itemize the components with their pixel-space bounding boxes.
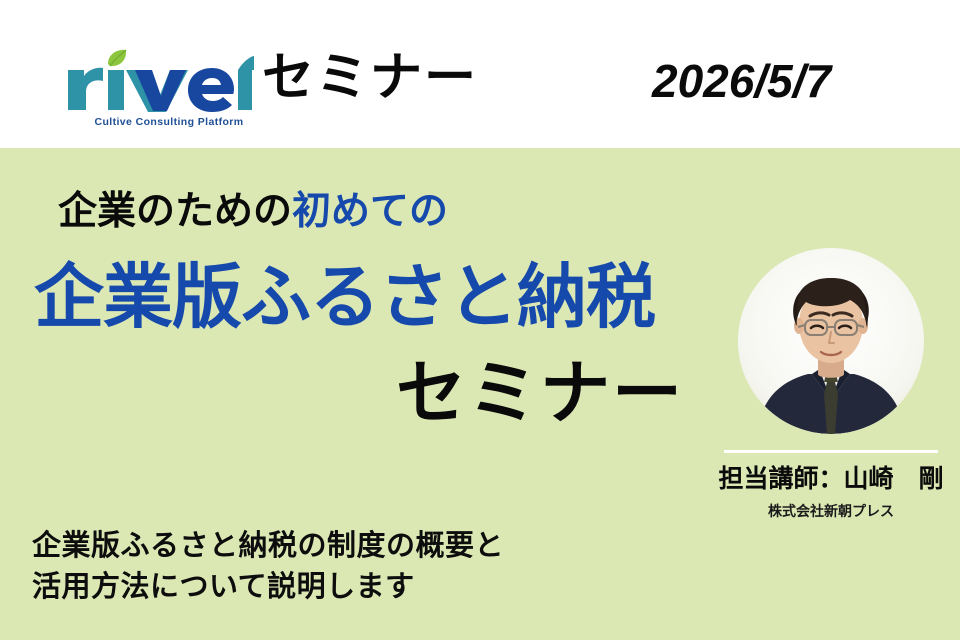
page-subtitle: セミナー: [396, 360, 684, 430]
page-title: 企業版ふるさと納税: [34, 262, 655, 332]
poster-header: Cultive Consulting Platform セミナー 2026/5/…: [0, 0, 960, 148]
speaker-name: 担当講師：山崎 剛: [718, 459, 944, 495]
seminar-poster: Cultive Consulting Platform セミナー 2026/5/…: [0, 0, 960, 640]
header-seminar-label: セミナー: [262, 52, 478, 104]
logo-wordmark: [62, 48, 254, 114]
avatar: [738, 248, 924, 434]
seminar-date: 2026/5/7: [652, 58, 831, 104]
description-line-2: 活用方法について説明します: [32, 571, 415, 603]
title-kicker-highlight: 初めての: [292, 190, 448, 233]
description-line-1: 企業版ふるさと納税の制度の概要と: [32, 530, 504, 562]
seminar-description: 企業版ふるさと納税の制度の概要と活用方法について説明します: [32, 526, 504, 608]
river-logo: Cultive Consulting Platform: [62, 48, 254, 140]
title-kicker-plain: 企業のための: [58, 190, 292, 233]
speaker-block: 担当講師：山崎 剛 株式会社新朝プレス: [718, 248, 944, 521]
speaker-divider: [724, 450, 938, 453]
title-kicker: 企業のための初めての: [58, 192, 448, 231]
logo-tagline: Cultive Consulting Platform: [84, 116, 254, 128]
poster-body: 企業のための初めての 企業版ふるさと納税 セミナー 企業版ふるさと納税の制度の概…: [0, 148, 960, 640]
speaker-company: 株式会社新朝プレス: [718, 501, 944, 521]
